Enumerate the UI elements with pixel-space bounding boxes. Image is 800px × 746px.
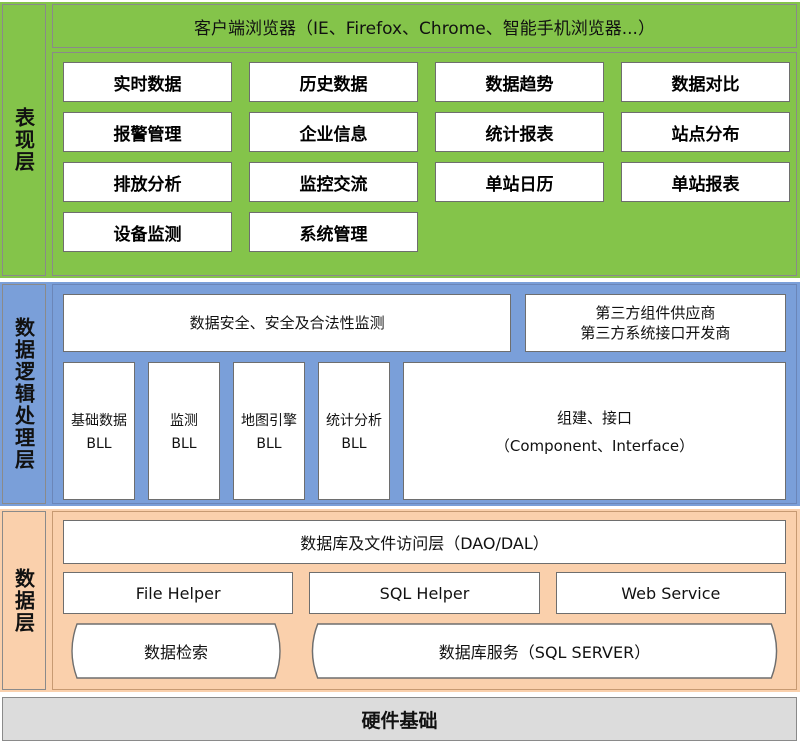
data-retrieval-label: 数据检索 <box>63 623 289 679</box>
logic-top-row: 数据安全、安全及合法性监测 第三方组件供应商 第三方系统接口开发商 <box>63 294 786 352</box>
security-monitoring-box[interactable]: 数据安全、安全及合法性监测 <box>63 294 511 352</box>
bll-module-name: 统计分析 <box>326 410 382 430</box>
bll-module-name: 监测 <box>170 410 198 430</box>
hardware-foundation-bar: 硬件基础 <box>2 697 797 741</box>
sql-helper-box[interactable]: SQL Helper <box>309 572 539 614</box>
logic-layer: 数据逻辑处理层 数据安全、安全及合法性监测 第三方组件供应商 第三方系统接口开发… <box>0 282 800 506</box>
presentation-row: 实时数据 历史数据 数据趋势 数据对比 <box>63 62 786 102</box>
database-service-label: 数据库服务（SQL SERVER） <box>303 623 786 679</box>
logic-layer-tab-label: 数据逻辑处理层 <box>10 317 39 471</box>
module-cell[interactable]: 实时数据 <box>63 62 232 102</box>
bll-module[interactable]: 地图引擎 BLL <box>233 362 305 500</box>
presentation-row: 报警管理 企业信息 统计报表 站点分布 <box>63 112 786 152</box>
third-party-box[interactable]: 第三方组件供应商 第三方系统接口开发商 <box>525 294 785 352</box>
module-cell[interactable]: 单站日历 <box>435 162 604 202</box>
file-helper-box[interactable]: File Helper <box>63 572 293 614</box>
module-cell[interactable]: 统计报表 <box>435 112 604 152</box>
bll-module[interactable]: 统计分析 BLL <box>318 362 390 500</box>
data-retrieval-cylinder[interactable]: 数据检索 <box>63 623 289 679</box>
database-service-cylinder[interactable]: 数据库服务（SQL SERVER） <box>303 623 786 679</box>
bll-module-suffix: BLL <box>86 436 111 452</box>
presentation-layer-tab-label: 表现层 <box>10 107 39 173</box>
logic-layer-tab: 数据逻辑处理层 <box>2 284 46 504</box>
bll-module-name: 基础数据 <box>71 410 127 430</box>
module-cell[interactable]: 报警管理 <box>63 112 232 152</box>
hardware-foundation-label: 硬件基础 <box>361 706 437 733</box>
module-cell[interactable]: 监控交流 <box>249 162 418 202</box>
presentation-layer-tab: 表现层 <box>2 4 46 276</box>
data-layer-tab: 数据层 <box>2 511 46 690</box>
third-party-line-2: 第三方系统接口开发商 <box>580 323 730 343</box>
module-cell[interactable]: 单站报表 <box>621 162 790 202</box>
datastore-row: 数据检索 数据库服务（SQL SERVER） <box>63 623 786 679</box>
presentation-row: 设备监测 系统管理 <box>63 212 786 252</box>
module-cell[interactable]: 系统管理 <box>249 212 418 252</box>
architecture-diagram: 表现层 客户端浏览器（IE、Firefox、Chrome、智能手机浏览器...）… <box>0 0 800 746</box>
bll-module-name: 地图引擎 <box>241 410 297 430</box>
logic-layer-body: 数据安全、安全及合法性监测 第三方组件供应商 第三方系统接口开发商 基础数据 B… <box>52 284 797 504</box>
data-layer-body: 数据库及文件访问层（DAO/DAL） File Helper SQL Helpe… <box>52 511 797 690</box>
presentation-module-grid: 实时数据 历史数据 数据趋势 数据对比 报警管理 企业信息 统计报表 站点分布 … <box>52 52 797 276</box>
presentation-row: 排放分析 监控交流 单站日历 单站报表 <box>63 162 786 202</box>
bll-module-suffix: BLL <box>341 436 366 452</box>
module-cell[interactable]: 站点分布 <box>621 112 790 152</box>
bll-module[interactable]: 监测 BLL <box>148 362 220 500</box>
bll-module-suffix: BLL <box>171 436 196 452</box>
bll-module-suffix: BLL <box>256 436 281 452</box>
dao-dal-label: 数据库及文件访问层（DAO/DAL） <box>300 530 549 554</box>
presentation-layer: 表现层 客户端浏览器（IE、Firefox、Chrome、智能手机浏览器...）… <box>0 2 800 278</box>
component-interface-box[interactable]: 组建、接口 （Component、Interface） <box>403 362 786 500</box>
bll-module[interactable]: 基础数据 BLL <box>63 362 135 500</box>
component-interface-line-2: （Component、Interface） <box>495 435 694 456</box>
helper-row: File Helper SQL Helper Web Service <box>63 572 786 614</box>
web-service-box[interactable]: Web Service <box>556 572 786 614</box>
third-party-line-1: 第三方组件供应商 <box>580 303 730 323</box>
data-layer-tab-label: 数据层 <box>10 568 39 634</box>
dao-dal-bar[interactable]: 数据库及文件访问层（DAO/DAL） <box>63 520 786 564</box>
client-browser-label: 客户端浏览器（IE、Firefox、Chrome、智能手机浏览器...） <box>194 14 655 39</box>
module-cell[interactable]: 数据对比 <box>621 62 790 102</box>
component-interface-line-1: 组建、接口 <box>557 407 632 428</box>
logic-bottom-row: 基础数据 BLL 监测 BLL 地图引擎 BLL 统计分析 BLL 组建、接口 <box>63 362 786 500</box>
data-layer: 数据层 数据库及文件访问层（DAO/DAL） File Helper SQL H… <box>0 509 800 692</box>
client-browser-banner: 客户端浏览器（IE、Firefox、Chrome、智能手机浏览器...） <box>52 4 797 48</box>
security-monitoring-label: 数据安全、安全及合法性监测 <box>190 313 385 333</box>
module-cell[interactable]: 数据趋势 <box>435 62 604 102</box>
module-cell[interactable]: 企业信息 <box>249 112 418 152</box>
module-cell[interactable]: 设备监测 <box>63 212 232 252</box>
module-cell[interactable]: 历史数据 <box>249 62 418 102</box>
module-cell[interactable]: 排放分析 <box>63 162 232 202</box>
